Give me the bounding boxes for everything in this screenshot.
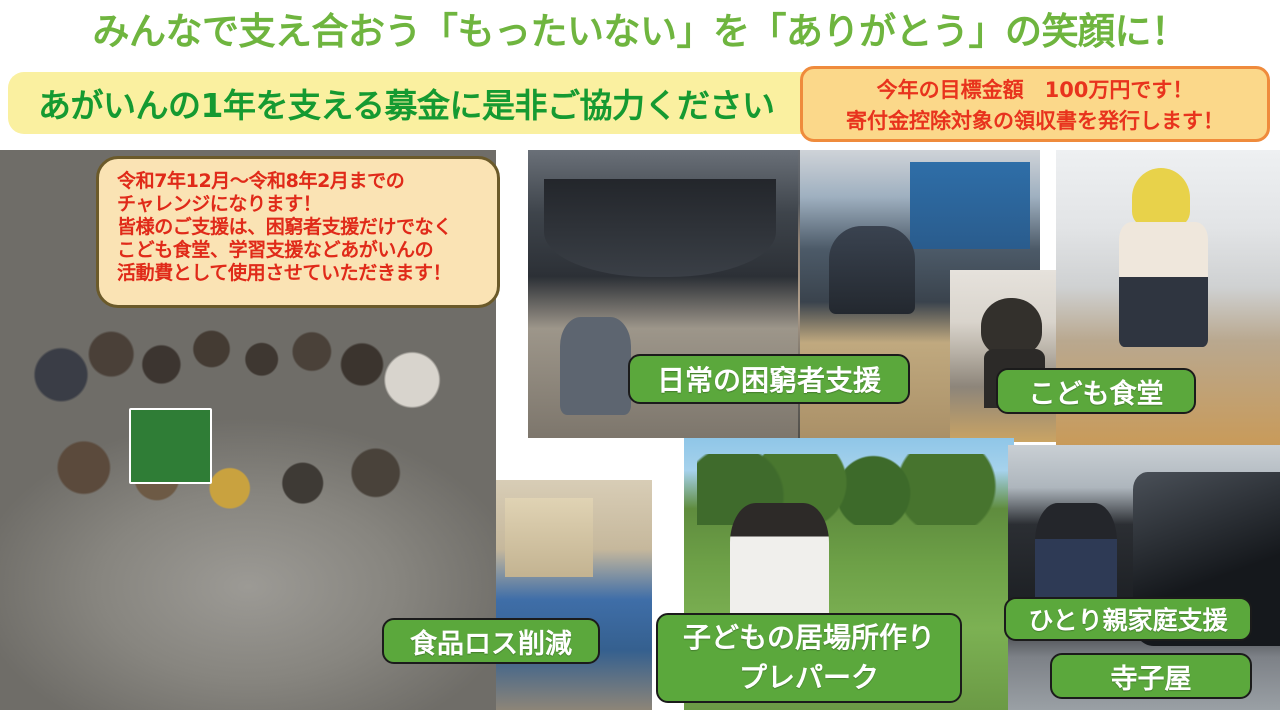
callout-line-2: チャレンジになります！: [117, 193, 497, 216]
badge-konkyu-label: 日常の困窮者支援: [657, 359, 881, 399]
goal-amount-line-1: 今年の目標金額 100万円です！: [877, 74, 1194, 104]
badge-childrens-cafeteria: こども食堂: [996, 368, 1196, 414]
badge-terakoya: 寺子屋: [1050, 653, 1252, 699]
badge-foodloss-label: 食品ロス削減: [410, 622, 572, 661]
goal-amount-line-2: 寄付金控除対象の領収書を発行します！: [846, 105, 1224, 135]
goal-amount-box: 今年の目標金額 100万円です！ 寄付金控除対象の領収書を発行します！: [800, 66, 1270, 142]
badge-single-parent-support: ひとり親家庭支援: [1004, 597, 1252, 641]
page-title: みんなで支え合おう「もったいない」を「ありがとう」の笑顔に！: [0, 6, 1280, 58]
badge-prepark-label-2: プレパーク: [739, 658, 879, 698]
badge-prepark-label-1: 子どもの居場所作り: [683, 618, 935, 658]
badge-childrens-place-prepark: 子どもの居場所作り プレパーク: [656, 613, 962, 703]
callout-line-3: 皆様のご支援は、困窮者支援だけでなく: [117, 216, 497, 239]
callout-line-5: 活動費として使用させていただきます！: [117, 262, 497, 285]
badge-kodomo-label: こども食堂: [1029, 372, 1164, 411]
badge-daily-poverty-support: 日常の困窮者支援: [628, 354, 910, 404]
donation-appeal-text: あがいんの1年を支える募金に是非ご協力ください: [38, 79, 774, 127]
campaign-period-callout: 令和7年12月～令和8年2月までの チャレンジになります！ 皆様のご支援は、困窮…: [96, 156, 500, 308]
photo-child-with-boxes: [496, 480, 652, 710]
badge-terakoya-label: 寺子屋: [1111, 657, 1192, 696]
badge-hitorioya-label: ひとり親家庭支援: [1028, 601, 1227, 637]
callout-line-1: 令和7年12月～令和8年2月までの: [117, 170, 497, 193]
badge-food-loss-reduction: 食品ロス削減: [382, 618, 600, 664]
callout-line-4: こども食堂、学習支援などあがいんの: [117, 239, 497, 262]
poster-root: みんなで支え合おう「もったいない」を「ありがとう」の笑顔に！ あがいんの1年を支…: [0, 0, 1280, 720]
